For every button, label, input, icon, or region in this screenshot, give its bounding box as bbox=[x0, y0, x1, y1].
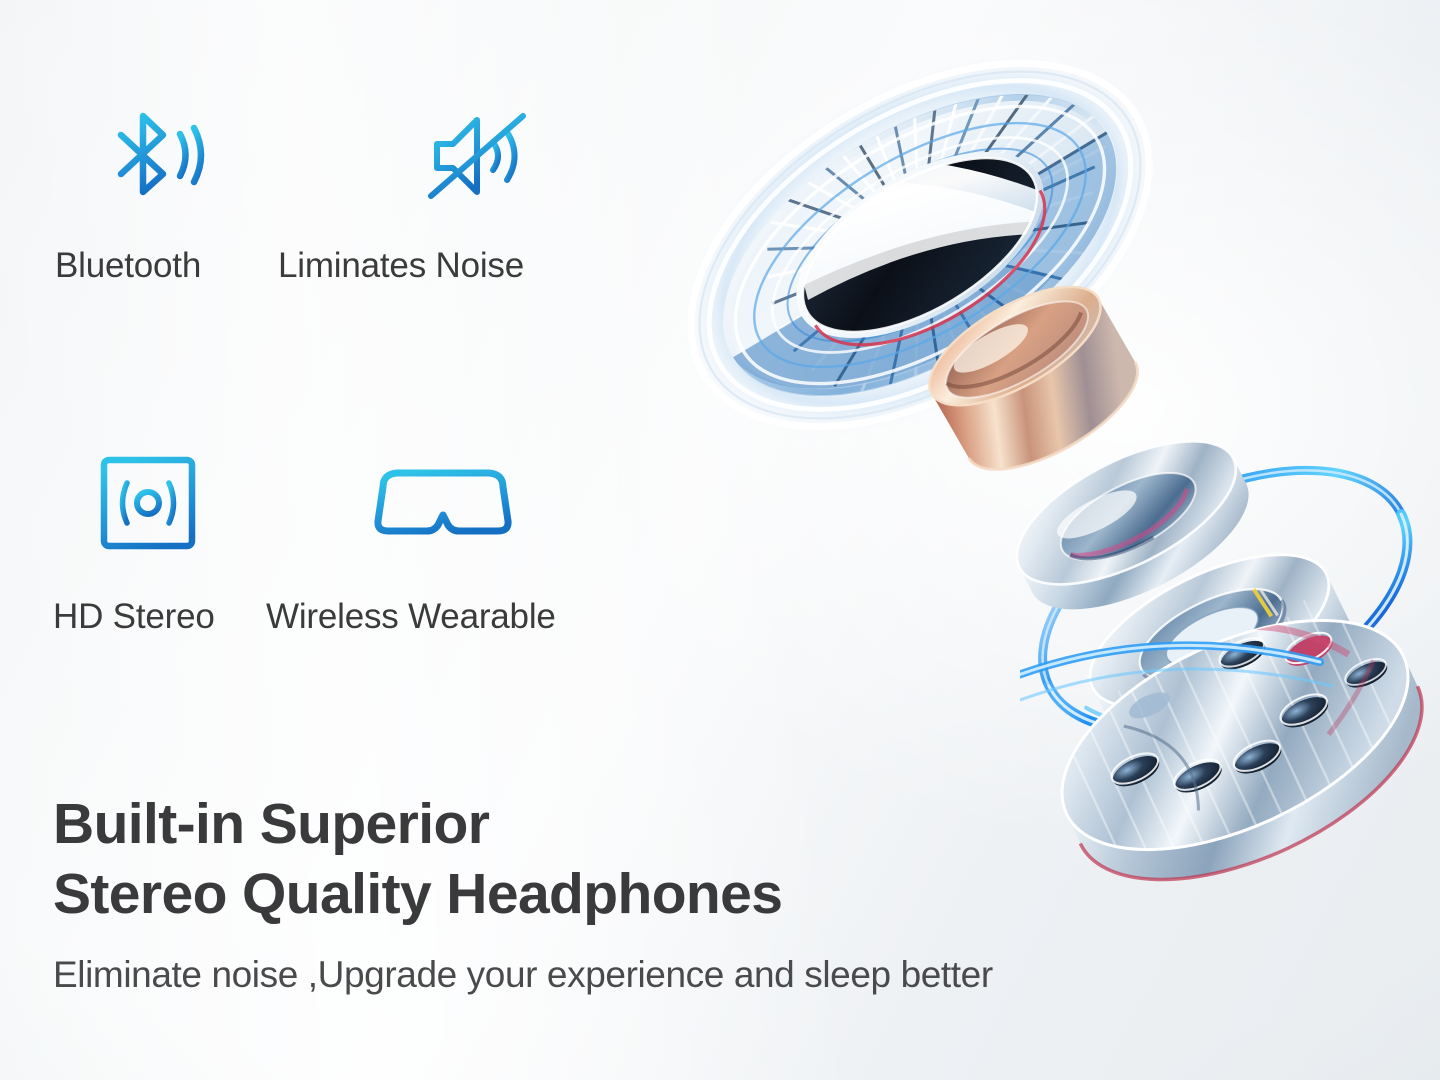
background-stage: Bluetooth bbox=[0, 0, 1440, 1080]
bluetooth-icon bbox=[53, 96, 333, 216]
feature-row-2: HD Stereo Wireles bbox=[53, 283, 693, 634]
feature-list: Bluetooth bbox=[53, 96, 693, 634]
hd-stereo-icon bbox=[53, 443, 311, 563]
copper-magnet-art bbox=[905, 280, 1185, 515]
feature-liminates-noise[interactable]: Liminates Noise bbox=[333, 96, 653, 283]
marketing-copy: Built-in Superior Stereo Quality Headpho… bbox=[53, 790, 993, 996]
feature-label: Liminates Noise bbox=[278, 248, 653, 283]
perforated-base-art bbox=[1020, 530, 1440, 950]
speaker-mute-icon bbox=[333, 96, 653, 216]
feature-row-1: Bluetooth bbox=[53, 96, 693, 283]
metal-stack-art bbox=[975, 400, 1440, 820]
driver-diaphragm-art bbox=[640, 10, 1200, 480]
headline-line-2: Stereo Quality Headphones bbox=[53, 860, 993, 930]
feature-wireless-wearable[interactable]: Wireless Wearable bbox=[311, 443, 651, 634]
vr-headset-icon bbox=[311, 443, 651, 563]
headline-line-1: Built-in Superior bbox=[53, 790, 993, 860]
feature-label: Wireless Wearable bbox=[266, 599, 651, 634]
subtitle: Eliminate noise ,Upgrade your experience… bbox=[53, 954, 993, 996]
